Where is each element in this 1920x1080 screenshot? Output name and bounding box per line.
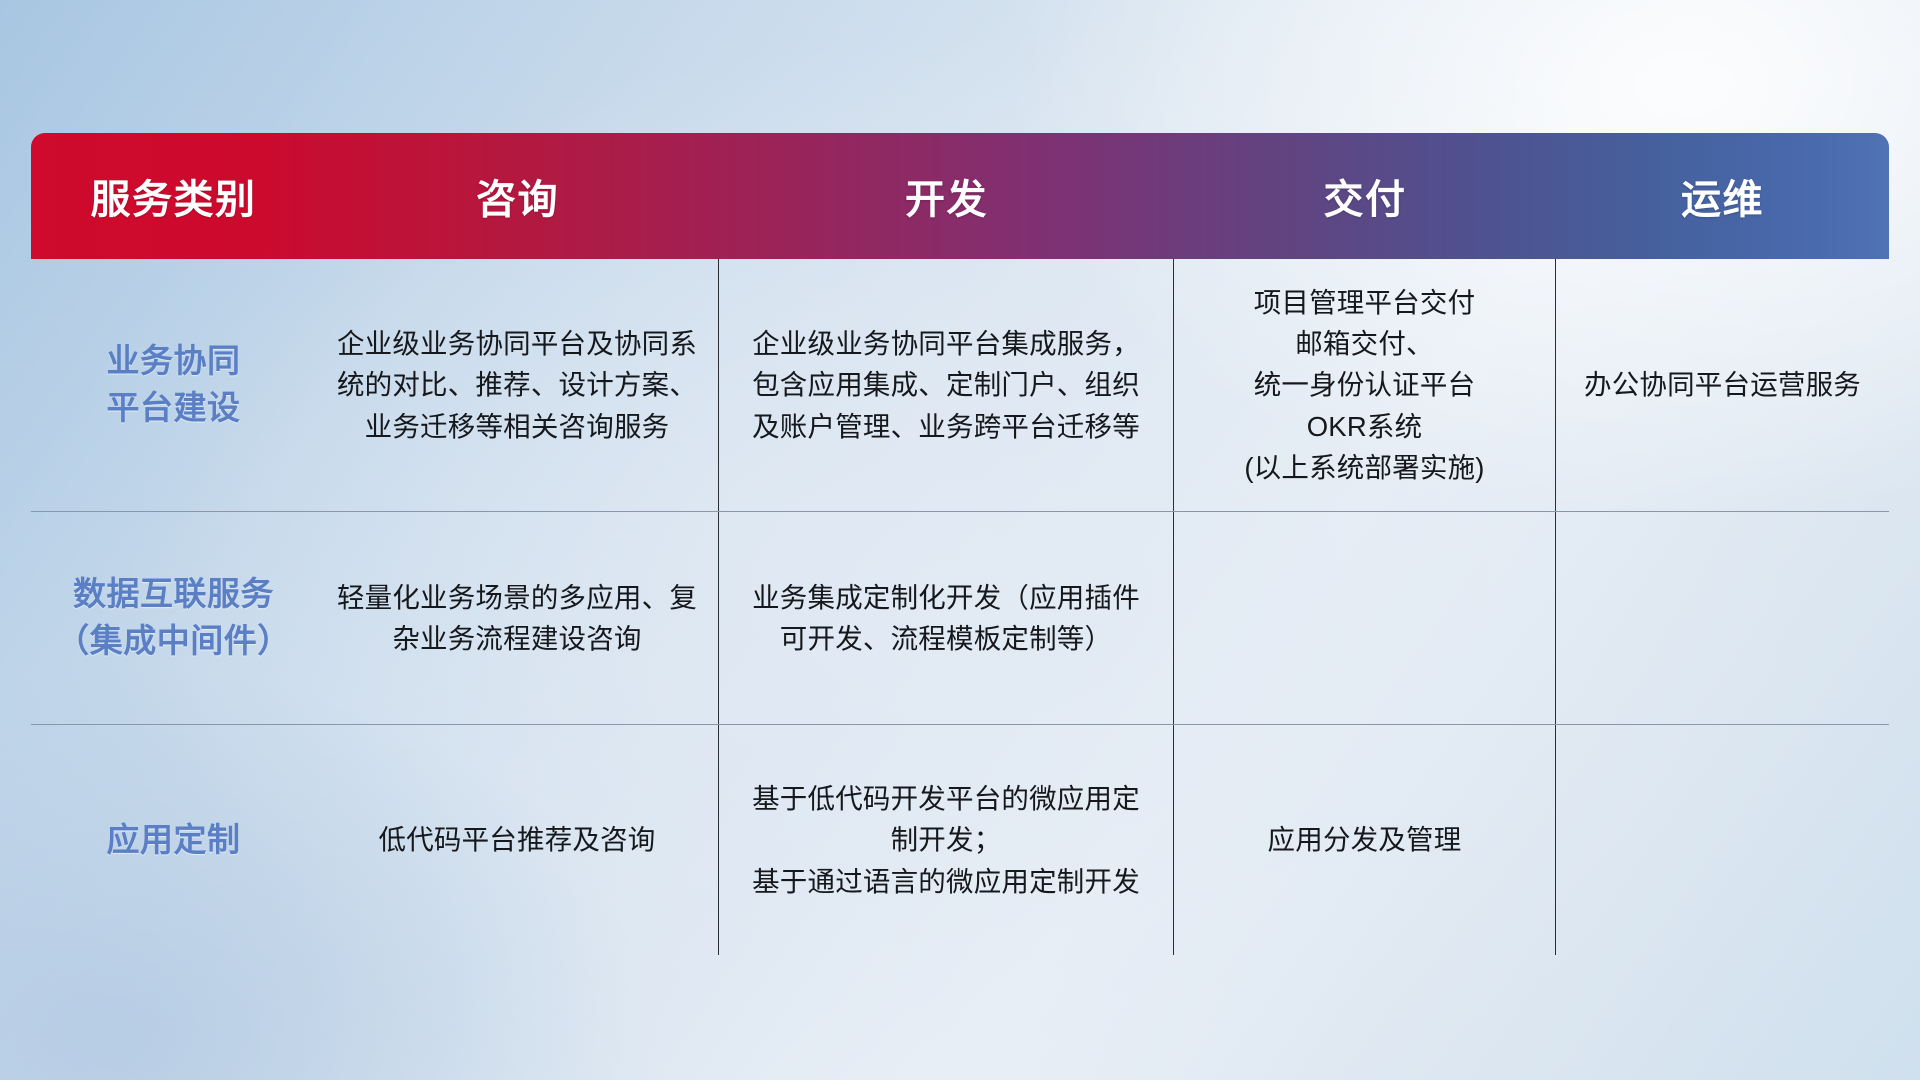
cell-development: 基于低代码开发平台的微应用定 制开发； 基于通过语言的微应用定制开发: [719, 725, 1174, 955]
cell-text: 企业级业务协同平台及协同系 统的对比、推荐、设计方案、 业务迁移等相关咨询服务: [337, 323, 697, 447]
cell-text: 项目管理平台交付 邮箱交付、 统一身份认证平台 OKR系统 (以上系统部署实施): [1244, 282, 1484, 488]
column-header-delivery-label: 交付: [1324, 167, 1407, 225]
row-label-text: 业务协同 平台建设: [107, 338, 241, 432]
row-label-cell: 业务协同 平台建设: [31, 259, 316, 511]
cell-delivery: 项目管理平台交付 邮箱交付、 统一身份认证平台 OKR系统 (以上系统部署实施): [1174, 259, 1556, 511]
cell-text: 低代码平台推荐及咨询: [379, 819, 656, 860]
column-header-category-label: 服务类别: [91, 167, 257, 225]
column-header-development-label: 开发: [905, 167, 988, 225]
table-header-row: 服务类别 咨询 开发 交付 运维: [31, 133, 1889, 259]
column-header-development: 开发: [719, 133, 1174, 259]
table-body: 业务协同 平台建设 企业级业务协同平台及协同系 统的对比、推荐、设计方案、 业务…: [31, 259, 1889, 955]
column-header-operations-label: 运维: [1681, 167, 1764, 225]
slide-canvas: 服务类别 咨询 开发 交付 运维 业务协同 平台建设 企业级业务协同平台及协同: [0, 0, 1920, 1080]
table-row: 业务协同 平台建设 企业级业务协同平台及协同系 统的对比、推荐、设计方案、 业务…: [31, 259, 1889, 512]
column-header-consulting-label: 咨询: [476, 167, 559, 225]
cell-text: 业务集成定制化开发（应用插件 可开发、流程模板定制等）: [752, 577, 1140, 660]
cell-text: 办公协同平台运营服务: [1584, 364, 1861, 405]
cell-operations: [1556, 725, 1889, 955]
cell-text: 企业级业务协同平台集成服务， 包含应用集成、定制门户、组织 及账户管理、业务跨平…: [752, 323, 1140, 447]
cell-text: 基于低代码开发平台的微应用定 制开发； 基于通过语言的微应用定制开发: [752, 778, 1140, 902]
column-header-category: 服务类别: [31, 133, 316, 259]
column-header-operations: 运维: [1556, 133, 1889, 259]
cell-consulting: 企业级业务协同平台及协同系 统的对比、推荐、设计方案、 业务迁移等相关咨询服务: [316, 259, 719, 511]
table-row: 数据互联服务 （集成中间件） 轻量化业务场景的多应用、复 杂业务流程建设咨询 业…: [31, 512, 1889, 725]
cell-development: 企业级业务协同平台集成服务， 包含应用集成、定制门户、组织 及账户管理、业务跨平…: [719, 259, 1174, 511]
cell-operations: 办公协同平台运营服务: [1556, 259, 1889, 511]
row-label-text: 数据互联服务 （集成中间件）: [56, 571, 291, 665]
column-header-delivery: 交付: [1174, 133, 1556, 259]
table-row: 应用定制 低代码平台推荐及咨询 基于低代码开发平台的微应用定 制开发； 基于通过…: [31, 725, 1889, 955]
cell-development: 业务集成定制化开发（应用插件 可开发、流程模板定制等）: [719, 512, 1174, 724]
cell-operations: [1556, 512, 1889, 724]
column-header-consulting: 咨询: [316, 133, 719, 259]
cell-consulting: 低代码平台推荐及咨询: [316, 725, 719, 955]
service-matrix-table: 服务类别 咨询 开发 交付 运维 业务协同 平台建设 企业级业务协同平台及协同: [31, 133, 1889, 955]
row-label-cell: 应用定制: [31, 725, 316, 955]
row-label-cell: 数据互联服务 （集成中间件）: [31, 512, 316, 724]
cell-consulting: 轻量化业务场景的多应用、复 杂业务流程建设咨询: [316, 512, 719, 724]
cell-delivery: [1174, 512, 1556, 724]
cell-delivery: 应用分发及管理: [1174, 725, 1556, 955]
row-label-text: 应用定制: [107, 817, 241, 864]
cell-text: 应用分发及管理: [1268, 819, 1462, 860]
cell-text: 轻量化业务场景的多应用、复 杂业务流程建设咨询: [337, 577, 697, 660]
